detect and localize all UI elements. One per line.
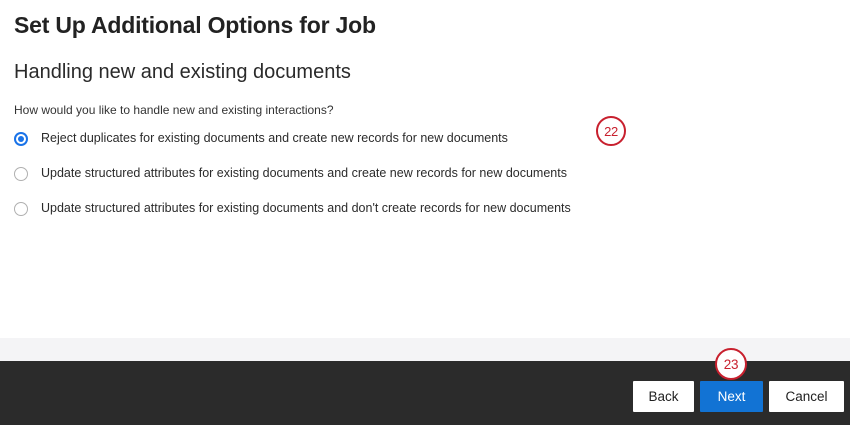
section-title: Handling new and existing documents — [14, 61, 351, 84]
radio-option-label: Reject duplicates for existing documents… — [41, 131, 508, 146]
wizard-dialog: Set Up Additional Options for Job Handli… — [0, 0, 850, 425]
radio-option-label: Update structured attributes for existin… — [41, 166, 567, 181]
radio-option-reject-duplicates[interactable]: Reject duplicates for existing documents… — [14, 131, 634, 166]
annotation-badge-23: 23 — [715, 348, 747, 380]
handling-radio-group: Reject duplicates for existing documents… — [14, 131, 634, 236]
radio-indicator-icon — [14, 167, 28, 181]
back-button[interactable]: Back — [633, 381, 694, 412]
page-title: Set Up Additional Options for Job — [14, 12, 376, 39]
question-label: How would you like to handle new and exi… — [14, 103, 334, 117]
radio-option-update-no-create[interactable]: Update structured attributes for existin… — [14, 201, 634, 236]
dialog-content: Set Up Additional Options for Job Handli… — [0, 0, 850, 338]
dialog-button-row: Back Next Cancel — [633, 381, 844, 412]
radio-indicator-icon — [14, 132, 28, 146]
cancel-button[interactable]: Cancel — [769, 381, 844, 412]
annotation-badge-22: 22 — [596, 116, 626, 146]
radio-option-update-and-create[interactable]: Update structured attributes for existin… — [14, 166, 634, 201]
radio-option-label: Update structured attributes for existin… — [41, 201, 571, 216]
radio-indicator-icon — [14, 202, 28, 216]
next-button[interactable]: Next — [700, 381, 763, 412]
